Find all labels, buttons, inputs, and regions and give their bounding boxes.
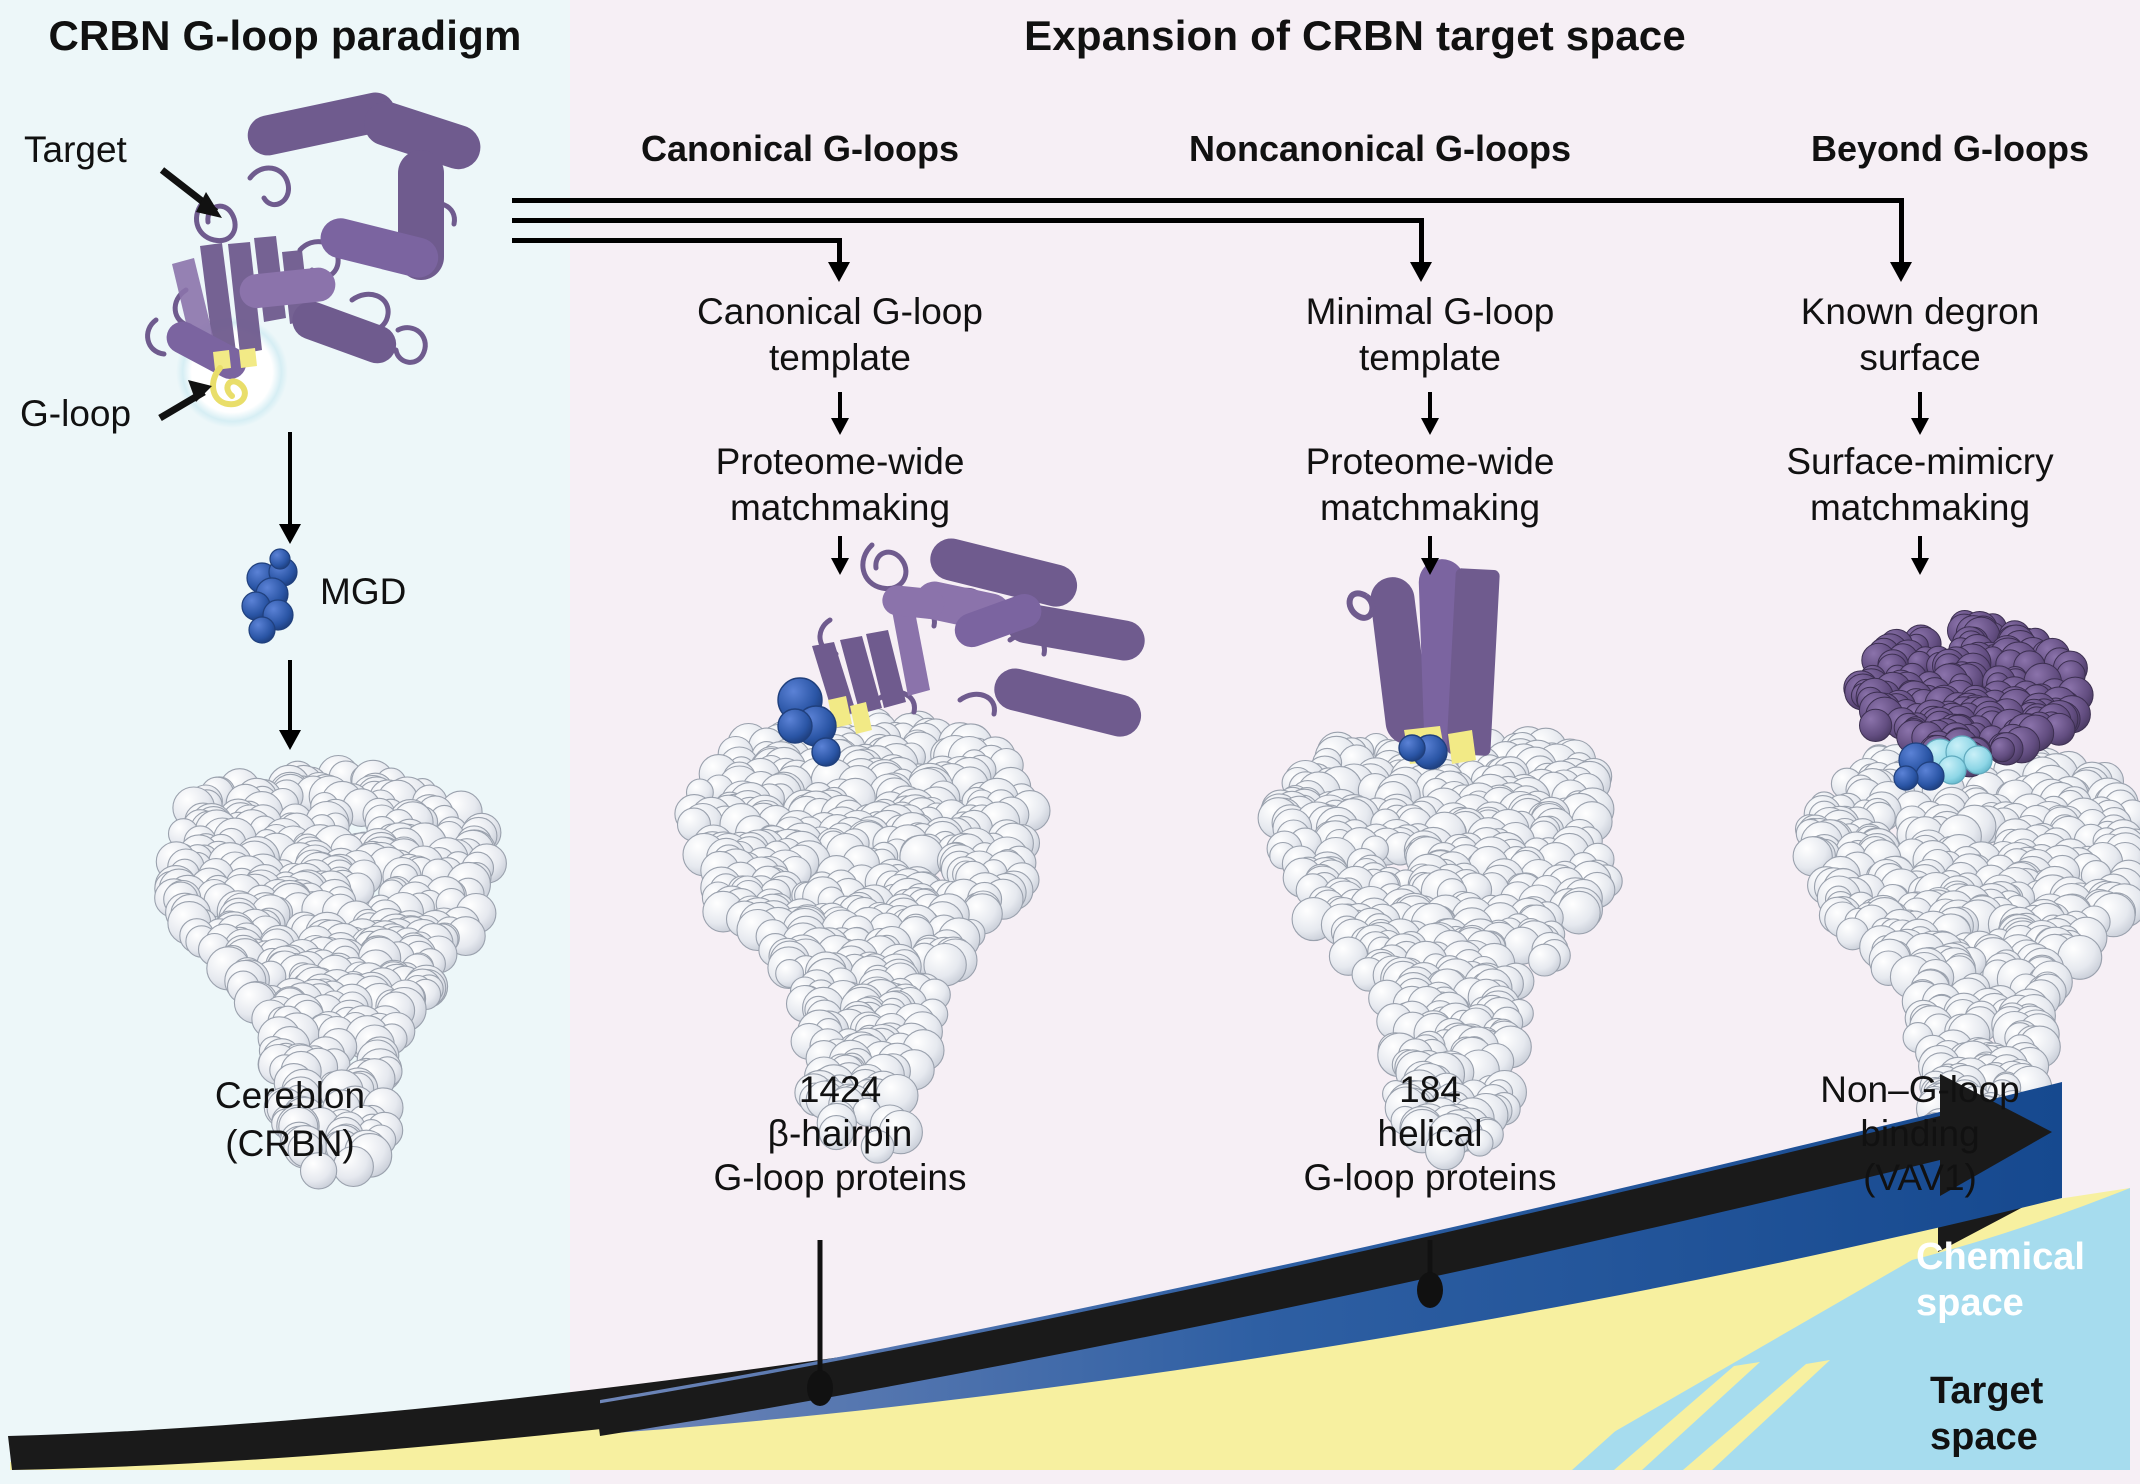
canonical-step1-line1: Canonical G-loop	[630, 290, 1050, 334]
mgd-label: MGD	[320, 570, 500, 614]
mgd-to-cereblon-arrow-head	[279, 730, 301, 750]
target-pointer-arrow	[162, 170, 222, 218]
branch-arrowhead-beyond	[1890, 262, 1912, 282]
figure-root: CRBN G-loop paradigm Expansion of CRBN t…	[0, 0, 2140, 1484]
branch-bus-line-mid	[512, 218, 1424, 223]
noncanonical-arrow1-head	[1421, 418, 1439, 435]
beyond-step1-line2: surface	[1700, 336, 2140, 380]
canonical-result-count: 1424	[630, 1068, 1050, 1112]
target-space-label-line2: space	[1930, 1416, 2140, 1459]
canonical-result-type: β-hairpin	[630, 1112, 1050, 1156]
beyond-arrow2-head	[1911, 558, 1929, 575]
noncanonical-result-count: 184	[1220, 1068, 1640, 1112]
beyond-step2-line1: Surface-mimicry	[1700, 440, 2140, 484]
branch-arrowhead-canonical	[828, 262, 850, 282]
gloop-to-mgd-arrow-head	[279, 524, 301, 544]
branch-drop-noncanonical	[1419, 218, 1424, 266]
beyond-step1-line1: Known degron	[1700, 290, 2140, 334]
target-label: Target	[24, 128, 214, 172]
canonical-step2-line1: Proteome-wide	[630, 440, 1050, 484]
branch-drop-beyond	[1899, 198, 1904, 266]
cereblon-label-line1: Cereblon	[60, 1074, 520, 1118]
noncanonical-step1-line2: template	[1220, 336, 1640, 380]
gloop-to-mgd-arrow-shaft	[288, 432, 292, 528]
mgd-to-cereblon-arrow-shaft	[288, 660, 292, 734]
beyond-result-line1: Non–G-loop	[1700, 1068, 2140, 1112]
beyond-arrow1-head	[1911, 418, 1929, 435]
branch-arrowhead-noncanonical	[1410, 262, 1432, 282]
chemical-space-label-line1: Chemical	[1916, 1236, 2136, 1279]
branch-bus-line-bottom	[512, 238, 842, 243]
canonical-arrow1-head	[831, 418, 849, 435]
noncanonical-step1-line1: Minimal G-loop	[1220, 290, 1640, 334]
noncanonical-step2-line1: Proteome-wide	[1220, 440, 1640, 484]
branch-bus-line-top	[512, 198, 1904, 203]
noncanonical-result-type: helical	[1220, 1112, 1640, 1156]
cereblon-label-line2: (CRBN)	[60, 1122, 520, 1166]
beyond-step2-line2: matchmaking	[1700, 486, 2140, 530]
target-space-label-line1: Target	[1930, 1370, 2140, 1413]
beyond-result-line2: binding	[1700, 1112, 2140, 1156]
canonical-step2-line2: matchmaking	[630, 486, 1050, 530]
mgd-molecule-spheres	[242, 549, 297, 643]
canonical-result-desc: G-loop proteins	[630, 1156, 1050, 1200]
beyond-result-line3: (VAV1)	[1700, 1156, 2140, 1200]
noncanonical-arrow2-head	[1421, 558, 1439, 575]
noncanonical-result-desc: G-loop proteins	[1220, 1156, 1640, 1200]
gloop-label: G-loop	[20, 392, 200, 436]
noncanonical-step2-line2: matchmaking	[1220, 486, 1640, 530]
canonical-arrow2-head	[831, 558, 849, 575]
chemical-space-label-line2: space	[1916, 1282, 2136, 1325]
canonical-step1-line2: template	[630, 336, 1050, 380]
